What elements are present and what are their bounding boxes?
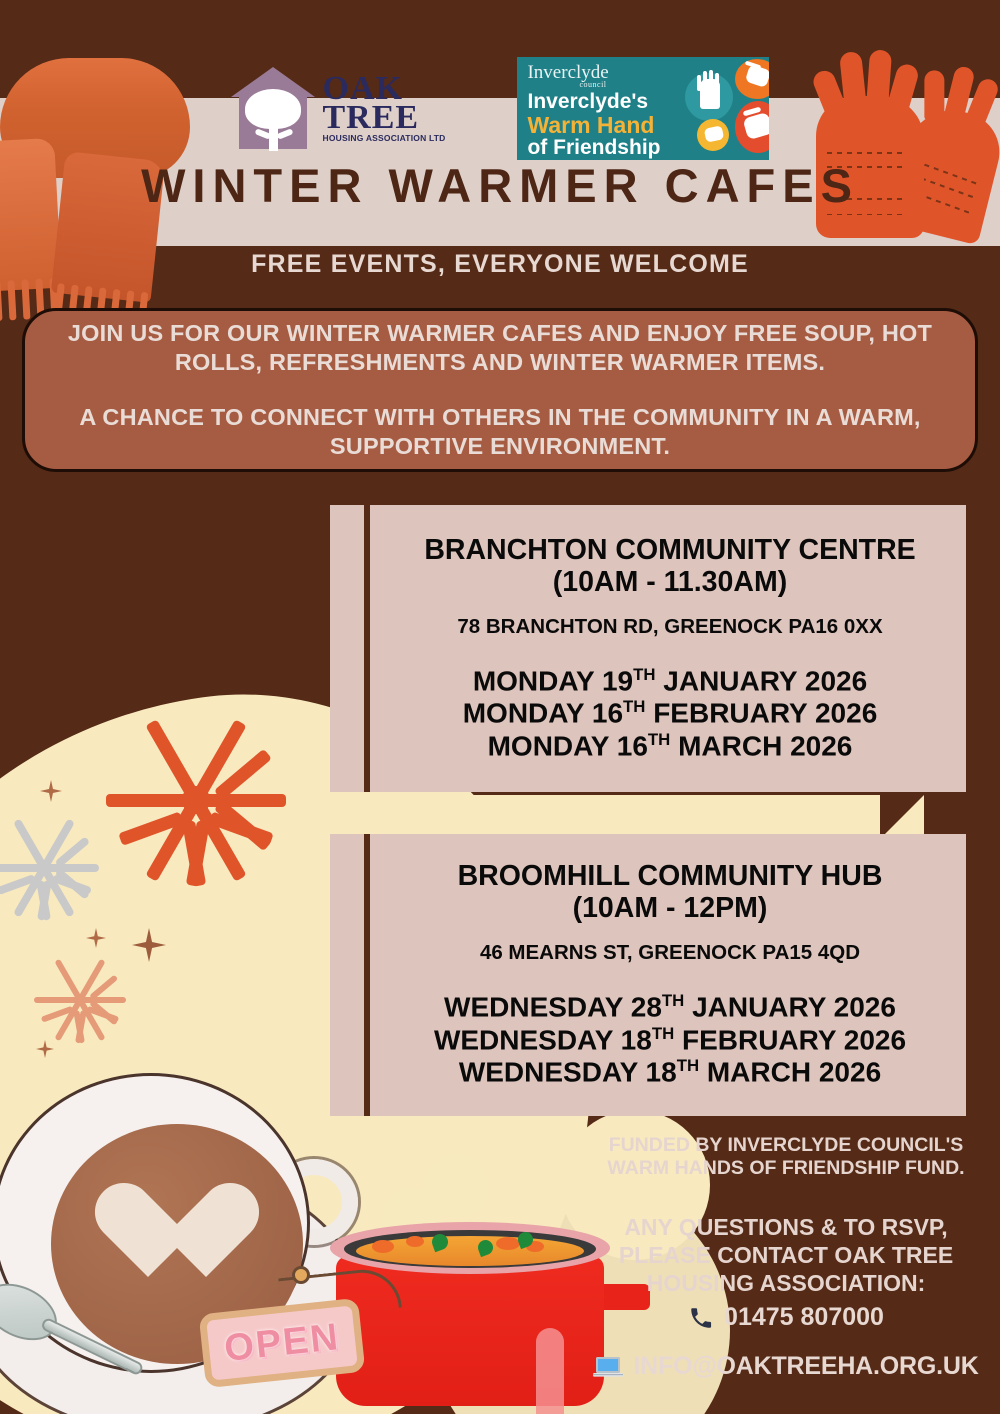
venue-name: BRANCHTON COMMUNITY CENTRE (10AM - 11.30… bbox=[424, 535, 915, 599]
venue-card-branchton: BRANCHTON COMMUNITY CENTRE (10AM - 11.30… bbox=[330, 505, 966, 792]
oak-tree-line2: TREE bbox=[323, 103, 446, 132]
card-divider bbox=[364, 834, 370, 1116]
inverclyde-council-sub: council bbox=[579, 81, 683, 89]
venue-date-row: MONDAY 16TH FEBRUARY 2026 bbox=[463, 697, 878, 730]
venue-card-broomhill: BROOMHILL COMMUNITY HUB (10AM - 12PM) 46… bbox=[330, 834, 966, 1116]
oak-tree-wordmark: OAK TREE HOUSING ASSOCIATION LTD bbox=[323, 74, 446, 143]
venue-dates: MONDAY 19TH JANUARY 2026 MONDAY 16TH FEB… bbox=[463, 665, 878, 763]
venue-date-row: MONDAY 19TH JANUARY 2026 bbox=[463, 665, 878, 698]
rsvp-line-2: PLEASE CONTACT OAK TREE bbox=[600, 1241, 972, 1269]
venue-address: 78 BRANCHTON RD, GREENOCK PA16 0XX bbox=[457, 615, 882, 639]
laptop-icon bbox=[593, 1355, 623, 1379]
rsvp-line-3: HOUSING ASSOCIATION: bbox=[600, 1269, 972, 1297]
inverclyde-logo: Inverclyde council Inverclyde's Warm Han… bbox=[517, 57, 769, 160]
description-box: JOIN US FOR OUR WINTER WARMER CAFES AND … bbox=[22, 308, 978, 472]
inverclyde-line2: Warm Hand bbox=[527, 113, 683, 137]
funded-line-1: FUNDED BY INVERCLYDE COUNCIL'S bbox=[600, 1134, 972, 1157]
page-subtitle: FREE EVENTS, EVERYONE WELCOME bbox=[0, 250, 1000, 279]
rsvp-note: ANY QUESTIONS & TO RSVP, PLEASE CONTACT … bbox=[600, 1213, 972, 1297]
oak-tree-line3: HOUSING ASSOCIATION LTD bbox=[323, 135, 446, 142]
oak-tree-house-icon bbox=[231, 67, 315, 149]
venue-name-text: BRANCHTON COMMUNITY CENTRE bbox=[424, 534, 915, 566]
page-title: WINTER WARMER CAFES bbox=[0, 158, 1000, 213]
venue-date-row: WEDNESDAY 28TH JANUARY 2026 bbox=[434, 991, 906, 1024]
inverclyde-hands-graphic bbox=[683, 57, 769, 160]
poster: OPEN OAK TREE bbox=[0, 0, 1000, 1414]
inverclyde-council-name: Inverclyde bbox=[527, 63, 683, 82]
venue-hours-text: (10AM - 11.30AM) bbox=[553, 566, 787, 598]
inverclyde-line1: Inverclyde's bbox=[527, 91, 683, 113]
contact-email-row[interactable]: INFO@OAKTREEHA.ORG.UK bbox=[600, 1352, 972, 1381]
logo-row: OAK TREE HOUSING ASSOCIATION LTD Invercl… bbox=[0, 48, 1000, 168]
funded-line-2: WARM HANDS OF FRIENDSHIP FUND. bbox=[600, 1157, 972, 1180]
venue-name-text: BROOMHILL COMMUNITY HUB bbox=[458, 860, 883, 892]
venue-address: 46 MEARNS ST, GREENOCK PA15 4QD bbox=[480, 941, 860, 965]
email-address: INFO@OAKTREEHA.ORG.UK bbox=[633, 1352, 978, 1381]
venue-date-row: WEDNESDAY 18TH FEBRUARY 2026 bbox=[434, 1024, 906, 1057]
venue-date-row: MONDAY 16TH MARCH 2026 bbox=[463, 730, 878, 763]
rsvp-line-1: ANY QUESTIONS & TO RSVP, bbox=[600, 1213, 972, 1241]
oak-tree-logo: OAK TREE HOUSING ASSOCIATION LTD bbox=[231, 67, 446, 149]
inverclyde-line3: of Friendship bbox=[527, 137, 683, 159]
description-line-2: A CHANCE TO CONNECT WITH OTHERS IN THE C… bbox=[51, 403, 949, 461]
contact-phone-row[interactable]: 01475 807000 bbox=[600, 1303, 972, 1332]
funded-note: FUNDED BY INVERCLYDE COUNCIL'S WARM HAND… bbox=[600, 1134, 972, 1181]
venue-hours-text: (10AM - 12PM) bbox=[573, 892, 768, 924]
venue-date-row: WEDNESDAY 18TH MARCH 2026 bbox=[434, 1056, 906, 1089]
venue-name: BROOMHILL COMMUNITY HUB (10AM - 12PM) bbox=[458, 861, 883, 925]
card-divider bbox=[364, 505, 370, 792]
content-layer: OAK TREE HOUSING ASSOCIATION LTD Invercl… bbox=[0, 0, 1000, 1414]
phone-number: 01475 807000 bbox=[724, 1303, 884, 1332]
phone-icon bbox=[688, 1305, 714, 1331]
venue-dates: WEDNESDAY 28TH JANUARY 2026 WEDNESDAY 18… bbox=[434, 991, 906, 1089]
description-line-1: JOIN US FOR OUR WINTER WARMER CAFES AND … bbox=[51, 319, 949, 377]
